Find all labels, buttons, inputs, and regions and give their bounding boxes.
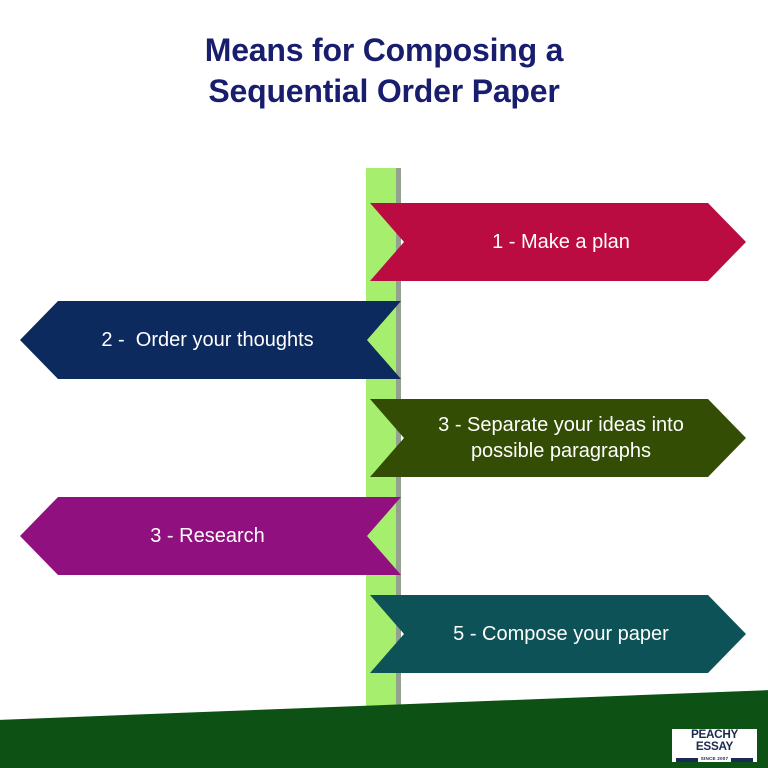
- step-arrow-2: 2 - Order your thoughts: [20, 301, 401, 379]
- logo-since-text: SINCE 2007: [701, 757, 729, 762]
- page-title-line-1: Means for Composing a: [0, 30, 768, 71]
- step-arrow-4-label: 3 - Research: [66, 523, 349, 549]
- step-arrow-2-label: 2 - Order your thoughts: [66, 327, 349, 353]
- logo-since-row: SINCE 2007: [676, 757, 753, 762]
- step-arrow-1: 1 - Make a plan: [370, 203, 746, 281]
- logo-bar-left: [676, 758, 698, 762]
- infographic-canvas: Means for Composing a Sequential Order P…: [0, 0, 768, 768]
- step-arrow-5: 5 - Compose your paper: [370, 595, 746, 673]
- page-title-line-2: Sequential Order Paper: [0, 71, 768, 112]
- logo-brand-name: PEACHY ESSAY: [675, 730, 754, 753]
- step-arrow-1-label: 1 - Make a plan: [422, 229, 700, 255]
- step-arrow-4: 3 - Research: [20, 497, 401, 575]
- center-green-spine: [366, 168, 396, 730]
- step-arrow-3-label: 3 - Separate your ideas into possible pa…: [422, 412, 700, 465]
- peachy-essay-logo: PEACHY ESSAY SINCE 2007: [672, 729, 757, 762]
- page-title: Means for Composing a Sequential Order P…: [0, 30, 768, 112]
- step-arrow-5-label: 5 - Compose your paper: [422, 621, 700, 647]
- step-arrow-3: 3 - Separate your ideas into possible pa…: [370, 399, 746, 477]
- logo-bar-right: [731, 758, 753, 762]
